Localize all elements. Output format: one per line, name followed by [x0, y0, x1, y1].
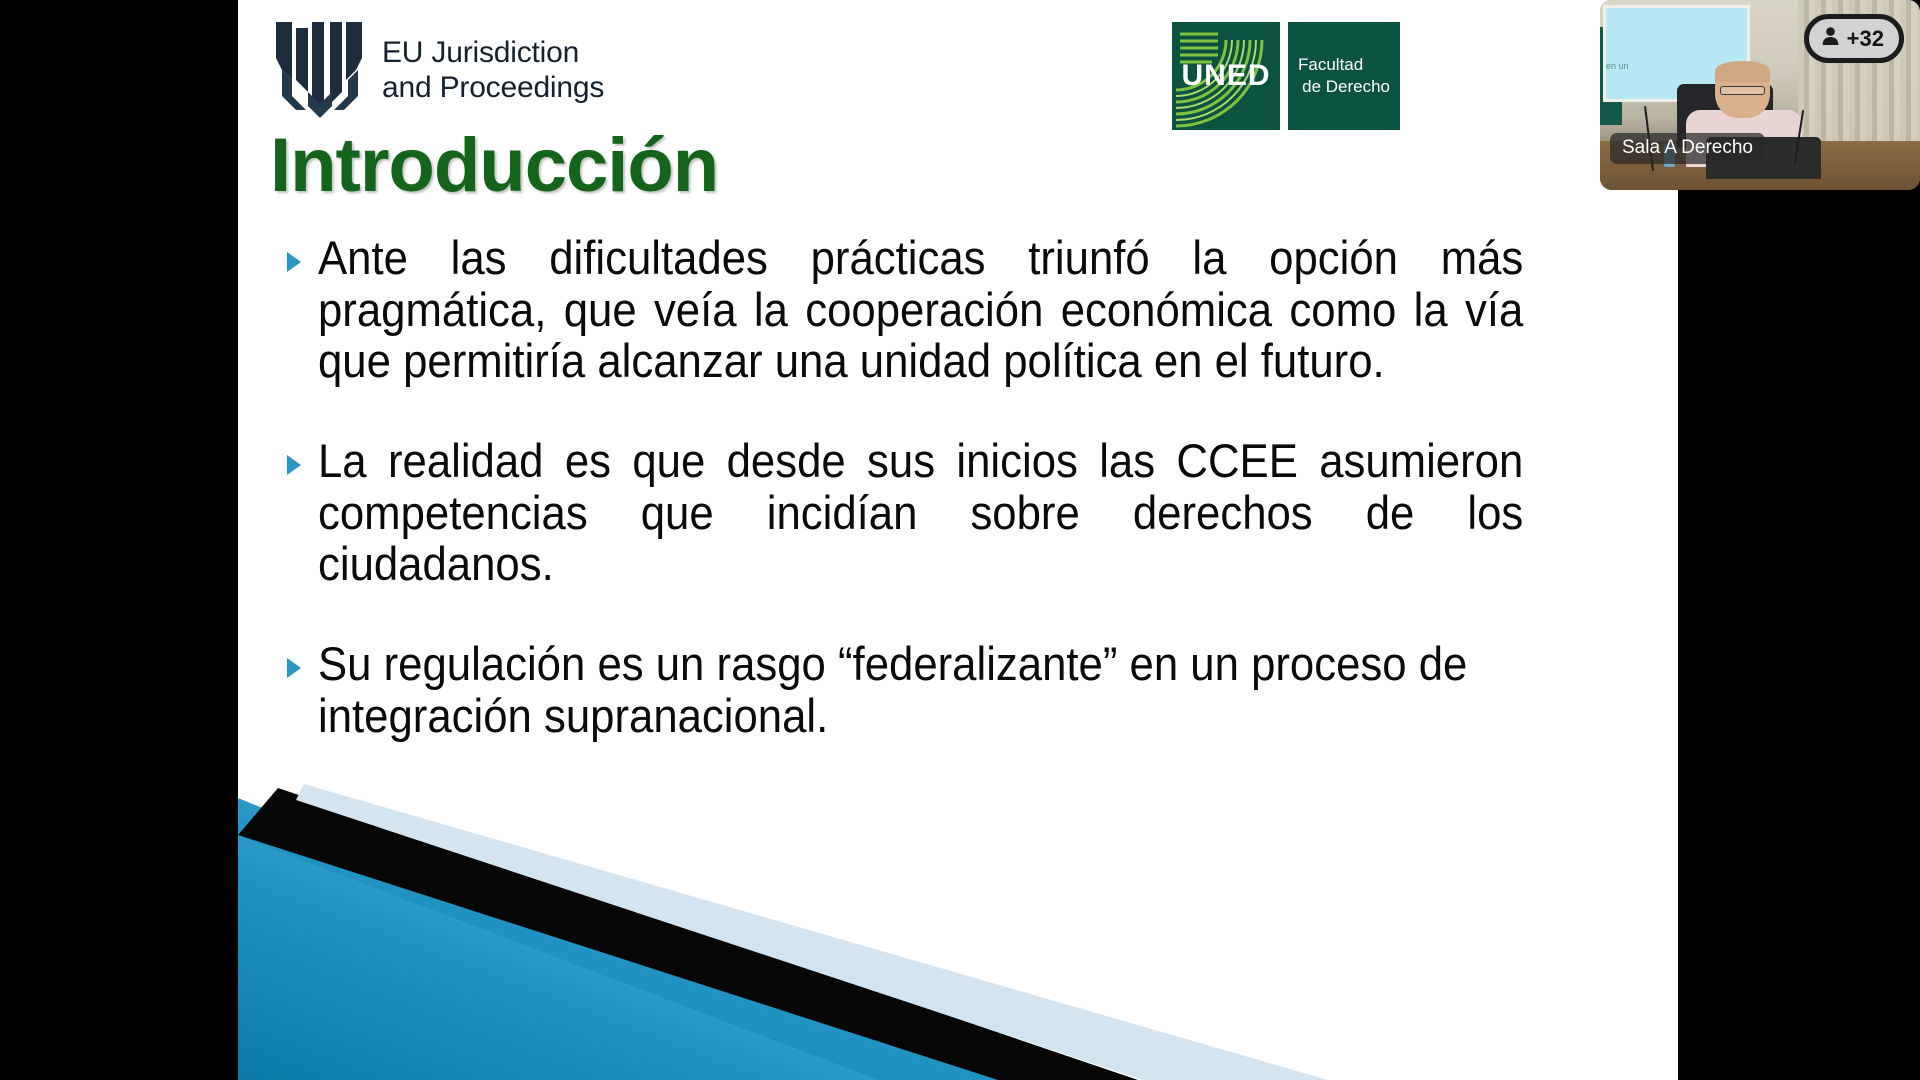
eujp-shield-icon [272, 18, 368, 122]
participant-count-badge[interactable]: +32 [1804, 14, 1904, 63]
video-projected-text: en un [1606, 61, 1629, 71]
uned-wordmark: UNED [1172, 59, 1280, 93]
faculty-line2: de Derecho [1298, 76, 1390, 98]
presentation-slide: EU Jurisdiction and Proceedings [238, 0, 1678, 1080]
triangle-bullet-icon [284, 435, 318, 477]
video-person-glasses [1720, 86, 1765, 96]
faculty-line1: Facultad [1298, 54, 1390, 76]
video-person-hair [1715, 61, 1769, 82]
participant-name-label: Sala A Derecho [1610, 133, 1765, 164]
uned-institution-logos: UNED Facultad de Derecho [1172, 22, 1400, 130]
bullet-item: Su regulación es un rasgo “federalizante… [284, 638, 1614, 741]
bullet-item: Ante las dificultades prácticas triunfó … [284, 232, 1614, 387]
uned-logo-tile: UNED [1172, 22, 1280, 130]
bullet-text: Ante las dificultades prácticas triunfó … [318, 232, 1523, 387]
slide-title: Introducción [270, 122, 718, 209]
faculty-logo-tile: Facultad de Derecho [1288, 22, 1400, 130]
bullet-text: La realidad es que desde sus inicios las… [318, 435, 1523, 590]
slide-body-bullets: Ante las dificultades prácticas triunfó … [284, 232, 1614, 742]
bullet-text: Su regulación es un rasgo “federalizante… [318, 638, 1523, 741]
person-icon [1821, 26, 1840, 51]
eujp-brand-name: EU Jurisdiction and Proceedings [382, 35, 604, 106]
eujp-brand-line1: EU Jurisdiction [382, 36, 579, 69]
eujp-brand-line2: and Proceedings [382, 71, 604, 104]
bullet-item: La realidad es que desde sus inicios las… [284, 435, 1614, 590]
screen-share-viewport: EU Jurisdiction and Proceedings [0, 0, 1920, 1080]
participant-count-label: +32 [1847, 28, 1884, 50]
triangle-bullet-icon [284, 638, 318, 680]
triangle-bullet-icon [284, 232, 318, 274]
eujp-brand-logo: EU Jurisdiction and Proceedings [272, 18, 604, 122]
